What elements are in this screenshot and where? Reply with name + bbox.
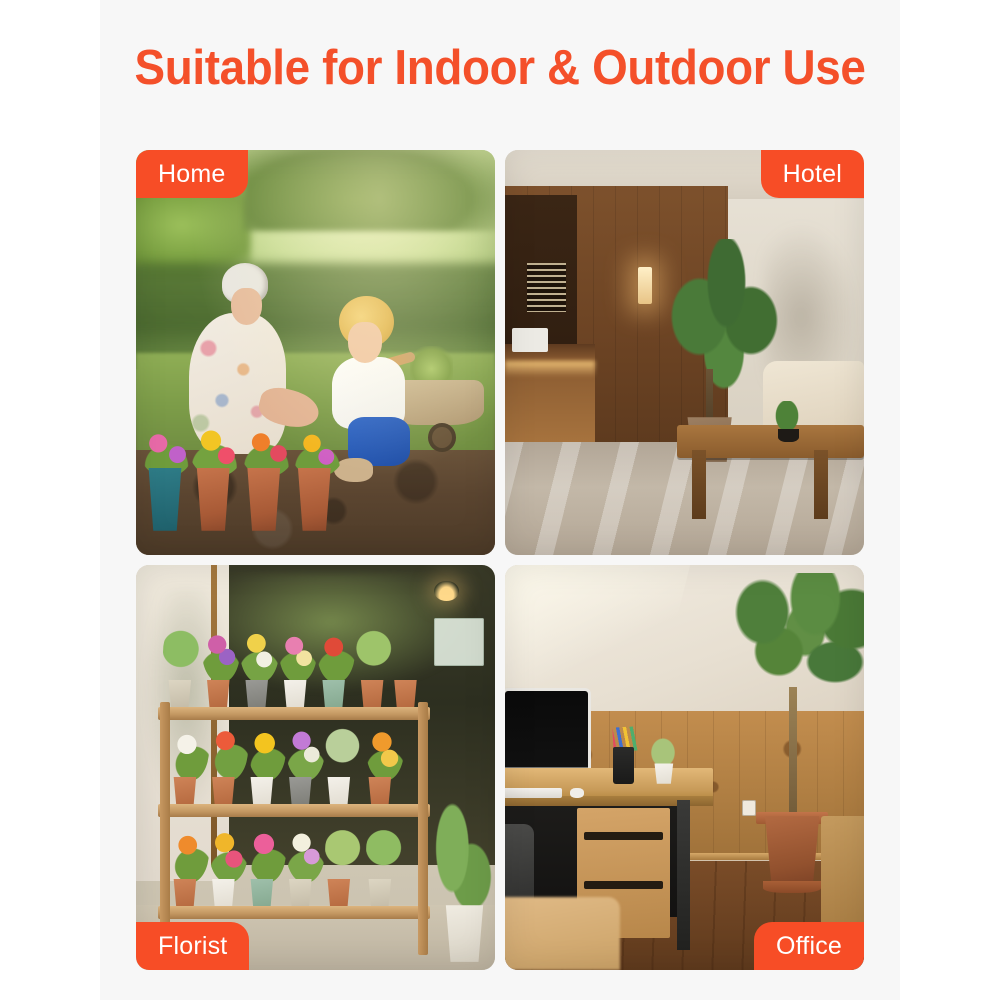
three-tier-plant-stand [158, 707, 431, 950]
scene-gallery-grid: Home [136, 150, 864, 960]
coffee-table-leg [692, 450, 706, 519]
plant-cluster [366, 718, 404, 780]
plant-cluster [248, 820, 286, 882]
product-feature-page: Suitable for Indoor & Outdoor Use [0, 0, 1000, 1000]
flower-pot-row [143, 409, 373, 531]
planter-pot [145, 468, 184, 531]
plant-cluster [248, 718, 286, 780]
foreground-table [505, 897, 620, 970]
scene-badge-label: Hotel [783, 160, 842, 189]
imac-monitor [505, 691, 588, 780]
scene-badge-florist: Florist [136, 922, 249, 970]
scene-card-office[interactable]: Office [505, 565, 864, 970]
lobby-floor [505, 442, 864, 555]
shelf-row-middle [166, 716, 422, 813]
plant-cluster [163, 621, 201, 683]
drawer-handle [584, 832, 663, 840]
wall-sconce-lamp [638, 267, 652, 303]
shelf-row-bottom [166, 819, 422, 916]
scene-badge-hotel: Hotel [761, 150, 864, 198]
plant-cluster [325, 718, 363, 780]
pencil-cup [613, 747, 635, 783]
plant-cluster [240, 621, 278, 683]
child-face [348, 322, 382, 363]
florist-shop-scene-image [136, 565, 495, 970]
scene-card-home[interactable]: Home [136, 150, 495, 555]
plant-cluster [286, 718, 324, 780]
small-desk-plant [645, 731, 681, 767]
planter-pot [244, 468, 283, 531]
plant-cluster [171, 718, 209, 780]
drawer-handle [584, 881, 663, 889]
plant-cluster [209, 820, 247, 882]
plant-cluster [366, 820, 404, 882]
shelf-board [158, 906, 431, 919]
plant-cluster [355, 621, 393, 683]
scene-badge-office: Office [754, 922, 864, 970]
hotel-lobby-scene-image [505, 150, 864, 555]
reception-monitor [512, 328, 548, 352]
shelf-row-top [166, 619, 422, 716]
office-scene-image [505, 565, 864, 970]
overhead-tree-branch [244, 150, 495, 231]
plant-cluster [209, 718, 247, 780]
pot-saucer [763, 881, 820, 893]
scene-badge-label: Office [776, 932, 842, 961]
planter-pot [194, 468, 233, 531]
plant-cluster [202, 621, 240, 683]
plant-cluster [317, 621, 355, 683]
keyboard [505, 788, 562, 799]
home-garden-scene-image [136, 150, 495, 555]
shelf-post [160, 702, 169, 955]
scene-card-hotel[interactable]: Hotel [505, 150, 864, 555]
wall-outlet [742, 800, 756, 816]
planter-pot [295, 468, 334, 531]
shelf-board [158, 707, 431, 720]
plant-cluster [325, 820, 363, 882]
plant-cluster [171, 820, 209, 882]
page-title: Suitable for Indoor & Outdoor Use [33, 38, 968, 98]
scene-badge-label: Florist [158, 932, 227, 961]
scene-badge-label: Home [158, 160, 226, 189]
scene-card-florist[interactable]: Florist [136, 565, 495, 970]
plant-cluster [279, 621, 317, 683]
desk-under-light [505, 361, 595, 377]
bottle-shelf [527, 263, 566, 312]
scene-badge-home: Home [136, 150, 248, 198]
shelf-post [418, 702, 427, 955]
side-shelf-unit [821, 816, 864, 938]
coffee-table-leg [814, 450, 828, 519]
bonsai-pot [778, 429, 800, 441]
plant-cluster [286, 820, 324, 882]
window-price-sign [434, 618, 484, 667]
mouse [570, 788, 584, 799]
shelf-board [158, 804, 431, 817]
woman-face [231, 288, 261, 324]
desk-leg [677, 800, 689, 950]
